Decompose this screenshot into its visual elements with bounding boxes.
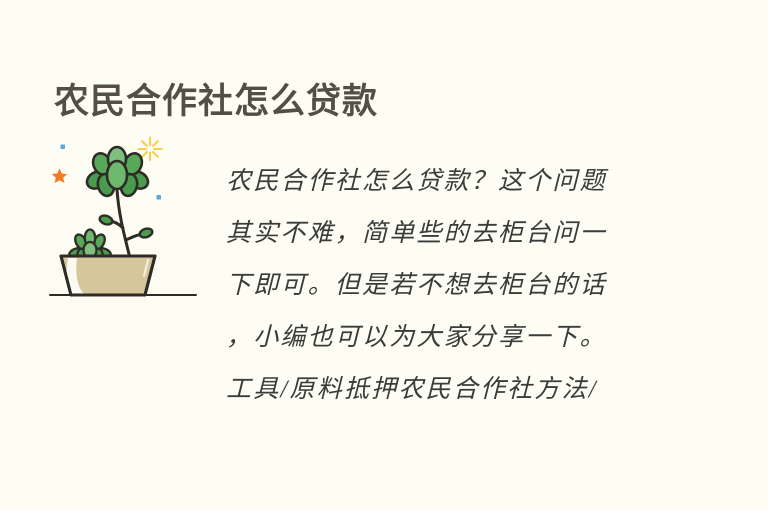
body-line: 工具/原料抵押农民合作社方法/ bbox=[226, 364, 650, 416]
plant-stems bbox=[108, 190, 145, 258]
body-line: 农民合作社怎么贷款？这个问题 bbox=[226, 156, 650, 208]
body-line: ，小编也可以为大家分享一下。 bbox=[226, 312, 650, 364]
succulent-top-rosette bbox=[84, 147, 151, 197]
page-root: 农民合作社怎么贷款 bbox=[0, 0, 768, 510]
orange-star-icon bbox=[52, 169, 67, 184]
yellow-starburst-icon bbox=[139, 138, 162, 161]
blue-dot-upper-left-icon bbox=[61, 145, 66, 150]
body-line: 下即可。但是若不想去柜台的话 bbox=[226, 260, 650, 312]
flower-pot bbox=[61, 256, 155, 295]
article-body: 农民合作社怎么贷款？这个问题 其实不难，简单些的去柜台问一 下即可。但是若不想去… bbox=[226, 156, 650, 416]
potted-plant-illustration bbox=[40, 128, 220, 303]
plant-stem-small-leaves bbox=[99, 214, 154, 239]
blue-dot-right-icon bbox=[157, 195, 162, 200]
body-line: 其实不难，简单些的去柜台问一 bbox=[226, 208, 650, 260]
page-title: 农民合作社怎么贷款 bbox=[54, 80, 378, 124]
potted-plant-svg bbox=[40, 128, 220, 303]
